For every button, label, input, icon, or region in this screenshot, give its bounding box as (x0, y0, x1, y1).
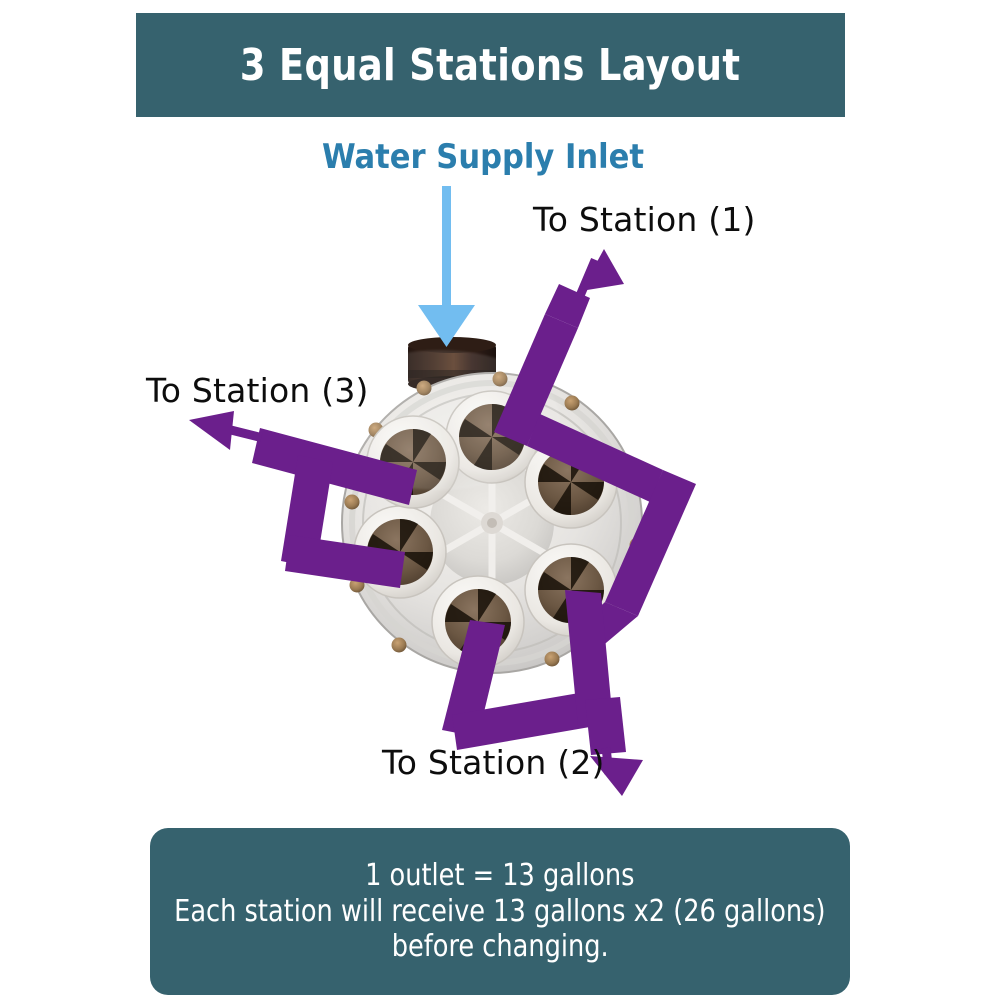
note-box: 1 outlet = 13 gallons Each station will … (150, 828, 850, 995)
water-supply-inlet-label: Water Supply Inlet (322, 137, 644, 177)
water-supply-inlet-arrow (418, 186, 475, 347)
note-line-1: 1 outlet = 13 gallons (365, 858, 634, 893)
note-line-2: Each station will receive 13 gallons x2 … (174, 894, 825, 929)
note-line-3: before changing. (391, 929, 608, 964)
to-station-1-label: To Station (1) (533, 200, 756, 239)
to-station-2-label: To Station (2) (382, 743, 605, 782)
to-station-3-label: To Station (3) (146, 371, 369, 410)
diagram-canvas: 3 Equal Stations Layout (0, 0, 1000, 1000)
